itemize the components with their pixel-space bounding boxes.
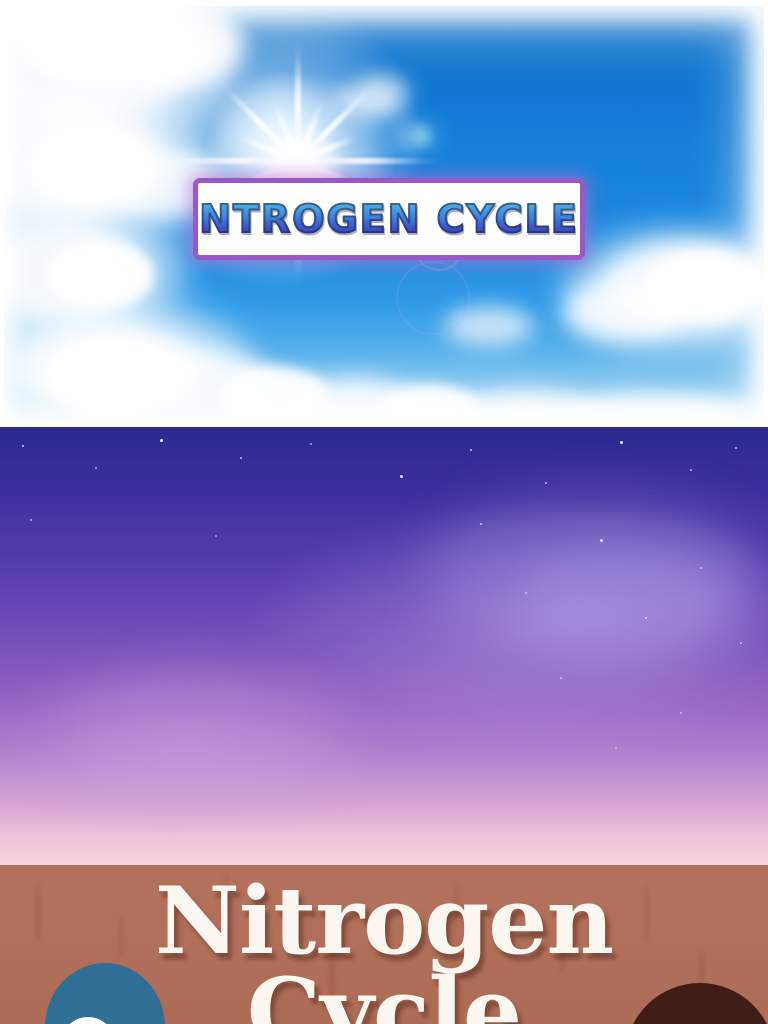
cloud-shape <box>564 396 744 421</box>
heading-line-2: Cycle <box>0 966 768 1024</box>
star <box>620 441 623 444</box>
star <box>740 642 742 644</box>
star <box>680 712 682 714</box>
star <box>470 449 472 451</box>
cloud-shape <box>564 281 684 341</box>
page-title: NTROGEN CYCLE <box>199 197 579 241</box>
star <box>400 475 403 478</box>
star <box>700 567 702 569</box>
star <box>215 535 217 537</box>
nitrogen-cycle-slide-panel: Nitrogen Cycle <box>0 865 768 1024</box>
star <box>160 439 163 442</box>
star <box>545 482 547 484</box>
nebula-shape <box>60 677 340 797</box>
star <box>30 519 32 521</box>
nebula-shape <box>520 547 750 657</box>
star <box>240 457 242 459</box>
star <box>310 443 312 445</box>
star <box>735 447 737 449</box>
star <box>645 617 647 619</box>
cloud-shape <box>124 16 224 78</box>
cloud-shape <box>44 241 154 309</box>
star <box>600 539 603 542</box>
slide-title-box: NTROGEN CYCLE <box>193 178 585 260</box>
star <box>615 747 617 749</box>
star <box>560 677 562 679</box>
star <box>480 523 482 525</box>
slide-deck-page: NTROGEN CYCLE NAME <box>0 0 768 1024</box>
nitrogen-cycle-heading: Nitrogen Cycle <box>0 875 768 1024</box>
star <box>22 445 24 447</box>
star <box>95 467 97 469</box>
star <box>525 592 527 594</box>
info-slide-panel: NAME NANDITA , KAJAL SCHOOL J.N.V. JUNAG… <box>0 427 768 865</box>
star <box>690 469 692 471</box>
title-slide-panel: NTROGEN CYCLE <box>0 0 768 427</box>
cloud-shape <box>444 306 534 346</box>
